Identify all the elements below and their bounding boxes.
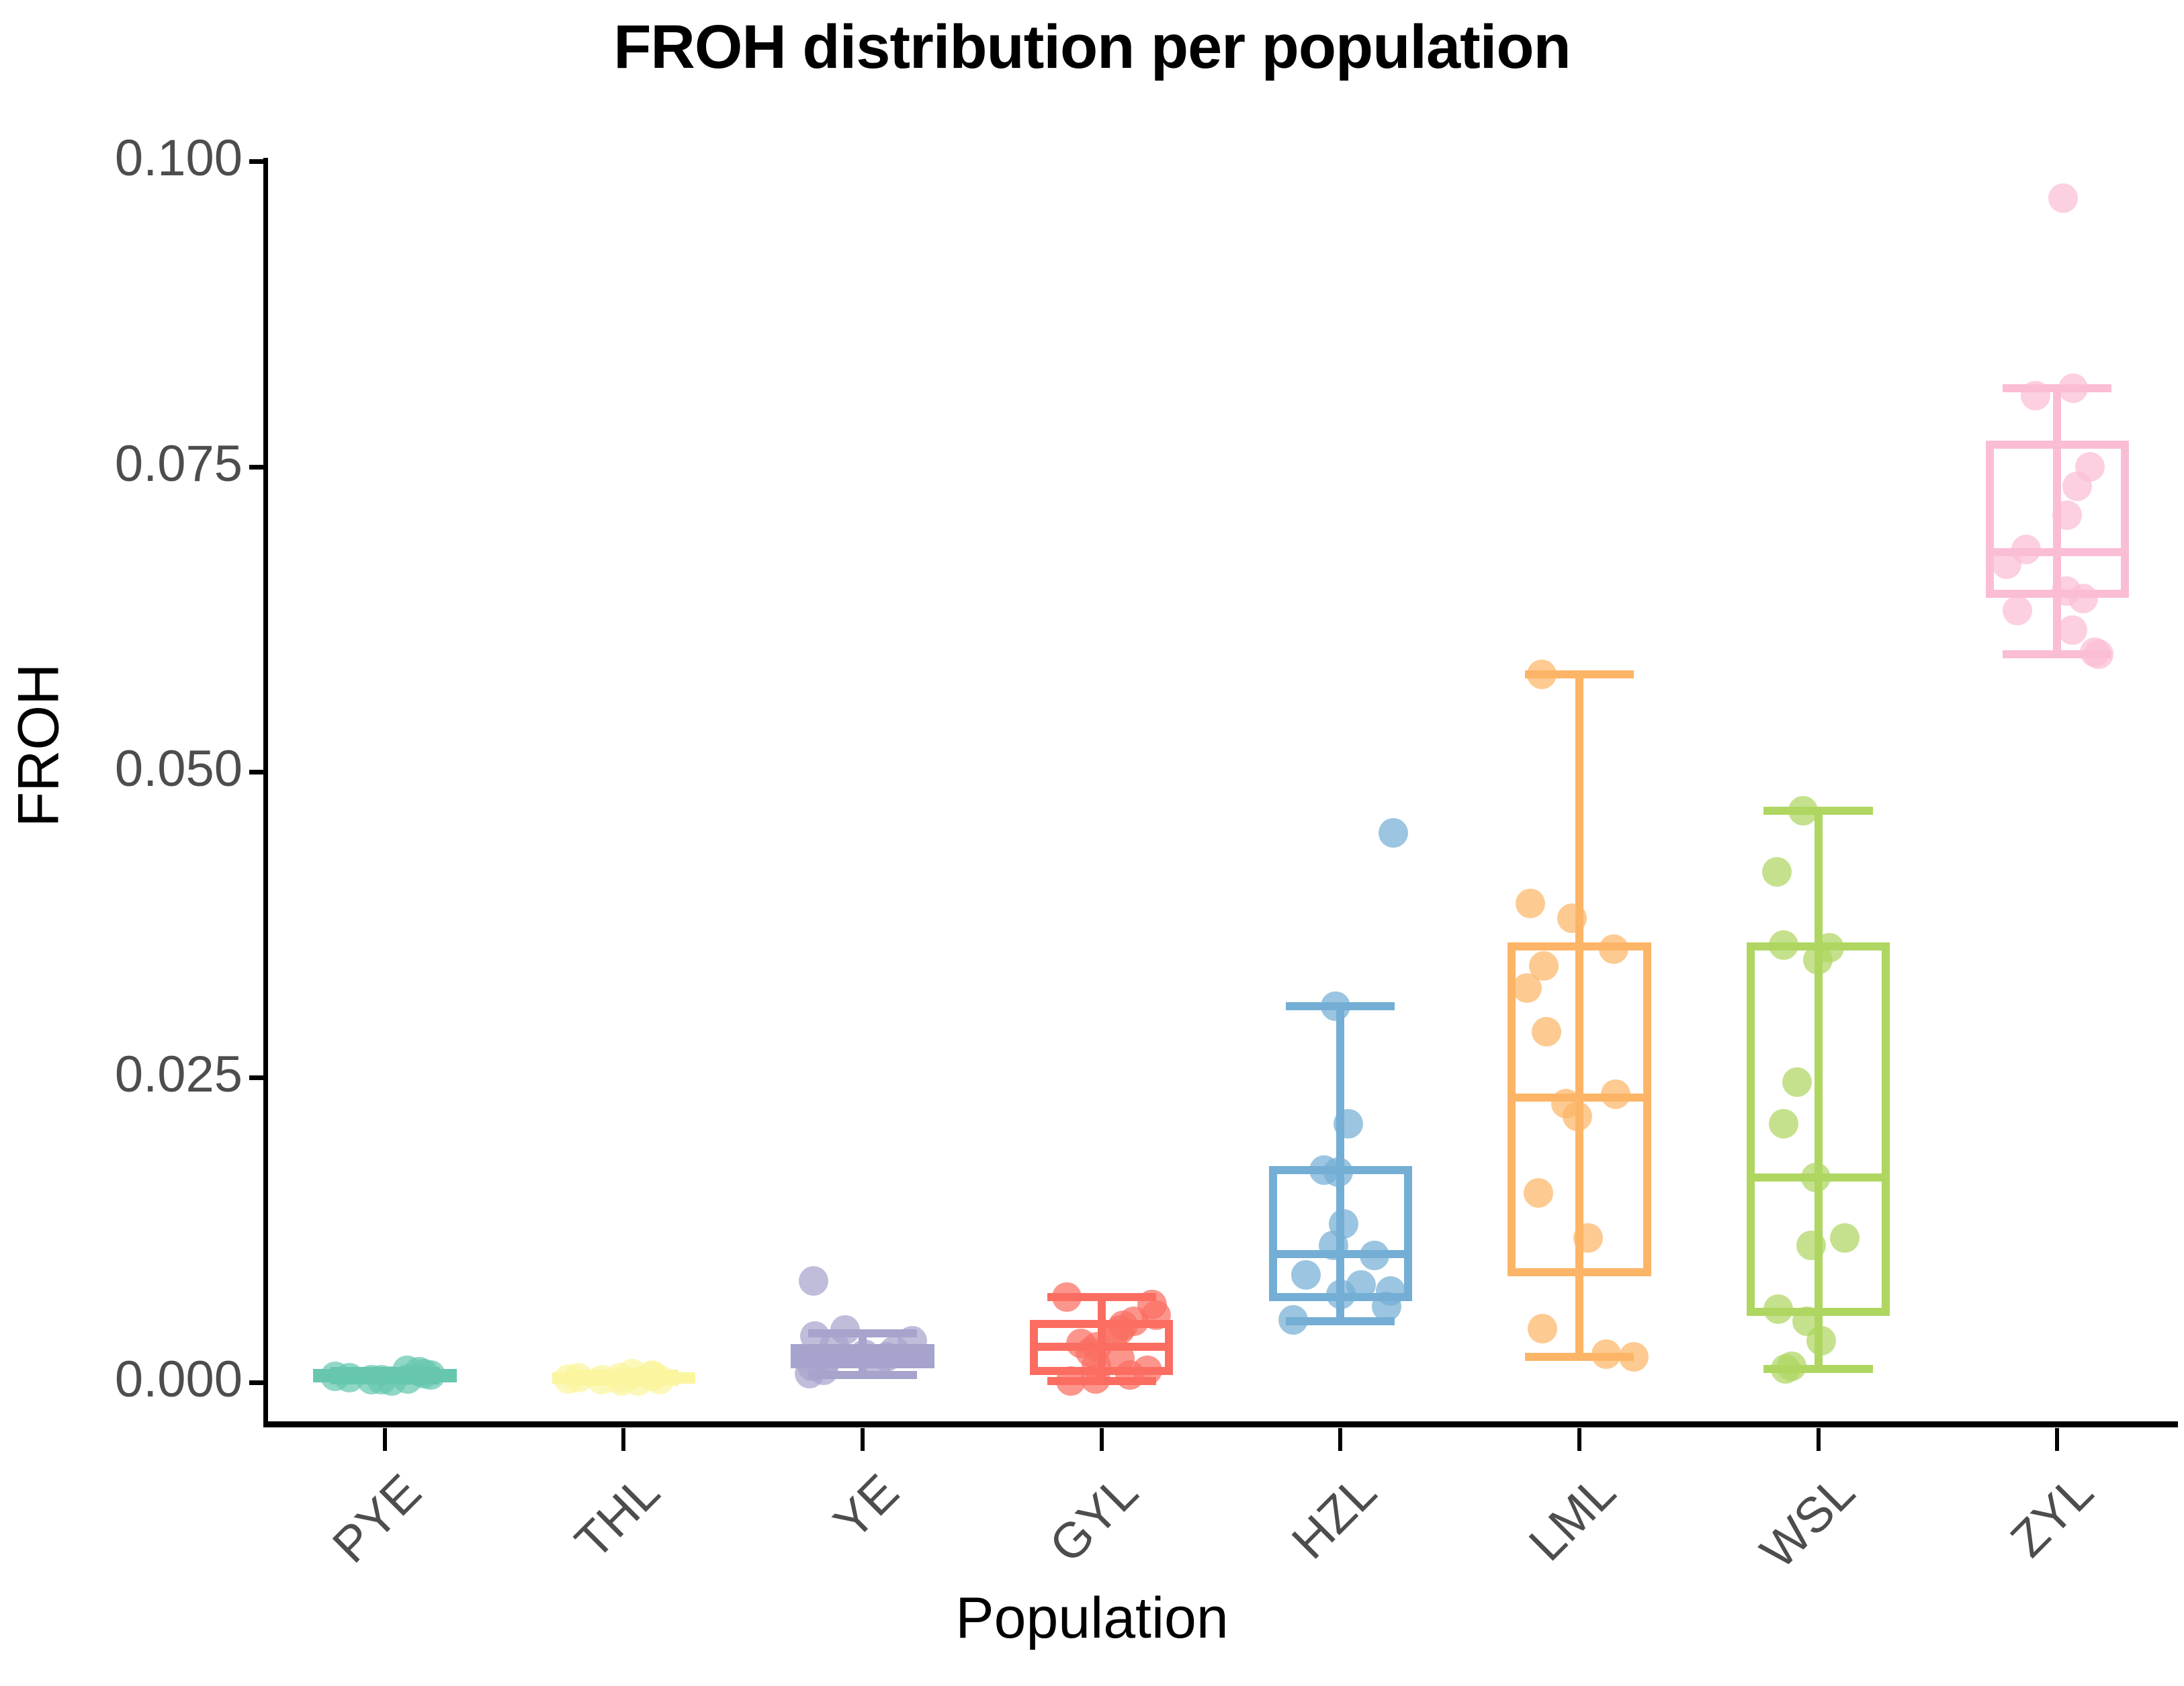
y-tick-label: 0.075 [41, 435, 243, 493]
whisker-line-lml [1575, 674, 1583, 1357]
data-point [1379, 818, 1408, 848]
data-point [1769, 930, 1798, 960]
data-point [377, 1366, 406, 1396]
data-point [1291, 1260, 1321, 1290]
data-point [1524, 1178, 1553, 1208]
y-tick-mark [249, 159, 264, 164]
data-point [1992, 549, 2021, 579]
data-point [1527, 660, 1557, 689]
x-tick-mark-zyl [2055, 1428, 2059, 1451]
page-title: FROH distribution per population [0, 12, 2184, 83]
data-point [1323, 1157, 1353, 1187]
data-point [1360, 1241, 1389, 1270]
box-right-wsl [1882, 942, 1890, 1316]
whisker-line-wsl [1815, 811, 1823, 1369]
y-tick-mark [249, 1075, 264, 1080]
x-tick-mark-ye [861, 1428, 865, 1451]
data-point [1788, 796, 1818, 826]
data-point [2048, 183, 2078, 213]
x-axis-line [263, 1421, 2178, 1427]
plot-panel [265, 158, 2177, 1424]
data-point [1319, 1231, 1348, 1260]
y-tick-label: 0.000 [41, 1350, 243, 1409]
data-point [1801, 1163, 1831, 1192]
y-tick-mark [249, 1380, 264, 1385]
data-point [1769, 1109, 1798, 1139]
data-point [1563, 1102, 1592, 1131]
box-top-zyl [1986, 441, 2129, 449]
box-right-lml [1643, 942, 1651, 1276]
data-point [2058, 615, 2087, 645]
x-tick-mark-gyl [1100, 1428, 1104, 1451]
data-point [1573, 1223, 1603, 1253]
box-right-hzl [1404, 1166, 1412, 1301]
data-point [1532, 1017, 1561, 1047]
data-point [2052, 500, 2082, 530]
data-point [1782, 1067, 1812, 1097]
data-point [1516, 889, 1545, 918]
data-point [1052, 1282, 1082, 1312]
y-tick-label: 0.100 [41, 129, 243, 187]
data-point [2084, 639, 2113, 669]
data-point [2058, 373, 2088, 403]
x-tick-mark-pye [383, 1428, 387, 1451]
data-point [607, 1366, 636, 1396]
data-point [795, 1359, 824, 1388]
box-left-wsl [1747, 942, 1755, 1316]
y-tick-label: 0.025 [41, 1045, 243, 1104]
data-point [1321, 991, 1350, 1021]
box-bottom-lml [1508, 1268, 1651, 1276]
box-right-zyl [2121, 441, 2129, 598]
data-point [554, 1364, 583, 1394]
data-point [1806, 1326, 1836, 1356]
data-point [1056, 1366, 1086, 1396]
data-point [1528, 1314, 1557, 1343]
x-tick-mark-lml [1577, 1428, 1581, 1451]
data-point [1601, 1079, 1630, 1109]
data-point [2068, 584, 2098, 613]
data-point [1599, 934, 1628, 964]
box-left-zyl [1986, 441, 1994, 598]
y-tick-mark [249, 770, 264, 774]
y-tick-label: 0.050 [41, 740, 243, 798]
data-point [1796, 1231, 1826, 1260]
y-tick-mark [249, 465, 264, 470]
data-point [1762, 857, 1792, 887]
box-top-lml [1508, 942, 1651, 950]
data-point [1763, 1294, 1793, 1324]
y-axis-line [263, 158, 268, 1426]
data-point [1372, 1292, 1401, 1321]
data-point [1591, 1339, 1621, 1369]
data-point [1512, 973, 1542, 1003]
data-point [1115, 1360, 1145, 1390]
data-point [1557, 903, 1587, 933]
chart-root: FROH distribution per population FROH Po… [0, 0, 2184, 1686]
data-point [1619, 1342, 1649, 1372]
data-point [1278, 1305, 1308, 1335]
x-tick-mark-thl [621, 1428, 625, 1451]
x-tick-mark-hzl [1338, 1428, 1342, 1451]
data-point [2062, 472, 2092, 501]
data-point [1334, 1109, 1363, 1139]
x-tick-mark-wsl [1817, 1428, 1821, 1451]
data-point [863, 1348, 892, 1378]
whisker-cap-high-wsl [1763, 807, 1872, 815]
whisker-cap-high-zyl [2003, 384, 2111, 392]
data-point [1771, 1354, 1800, 1384]
box-left-hzl [1269, 1166, 1277, 1301]
